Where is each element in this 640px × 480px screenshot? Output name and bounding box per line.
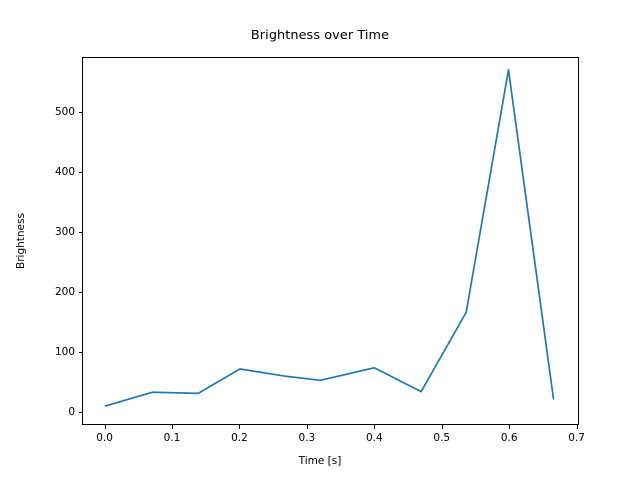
y-tick-label: 300 [30, 226, 75, 238]
x-tick-mark [105, 425, 106, 429]
x-tick-label: 0.4 [366, 432, 383, 444]
y-tick-mark [79, 112, 83, 113]
x-tick-label: 0.7 [568, 432, 585, 444]
y-axis-label: Brightness [15, 213, 27, 269]
x-tick-label: 0.0 [96, 432, 113, 444]
x-axis-label: Time [s] [0, 455, 640, 467]
x-tick-mark [307, 425, 308, 429]
y-tick-label: 200 [30, 286, 75, 298]
y-tick-mark [79, 232, 83, 233]
line-series-svg [83, 58, 578, 424]
x-tick-mark [374, 425, 375, 429]
x-tick-label: 0.2 [231, 432, 248, 444]
x-tick-mark [172, 425, 173, 429]
brightness-line [105, 70, 553, 406]
y-tick-mark [79, 292, 83, 293]
y-tick-label: 100 [30, 346, 75, 358]
x-tick-label: 0.5 [433, 432, 450, 444]
plot-area [82, 57, 579, 425]
y-tick-label: 400 [30, 166, 75, 178]
chart-title: Brightness over Time [0, 28, 640, 43]
x-tick-label: 0.1 [164, 432, 181, 444]
x-tick-mark [509, 425, 510, 429]
y-tick-mark [79, 172, 83, 173]
x-tick-mark [239, 425, 240, 429]
x-tick-label: 0.3 [299, 432, 316, 444]
x-tick-mark [442, 425, 443, 429]
y-tick-label: 0 [30, 406, 75, 418]
x-tick-label: 0.6 [501, 432, 518, 444]
y-tick-mark [79, 412, 83, 413]
x-tick-mark [577, 425, 578, 429]
y-tick-label: 500 [30, 106, 75, 118]
chart-figure: Brightness over Time Brightness Time [s]… [0, 0, 640, 480]
y-tick-mark [79, 352, 83, 353]
